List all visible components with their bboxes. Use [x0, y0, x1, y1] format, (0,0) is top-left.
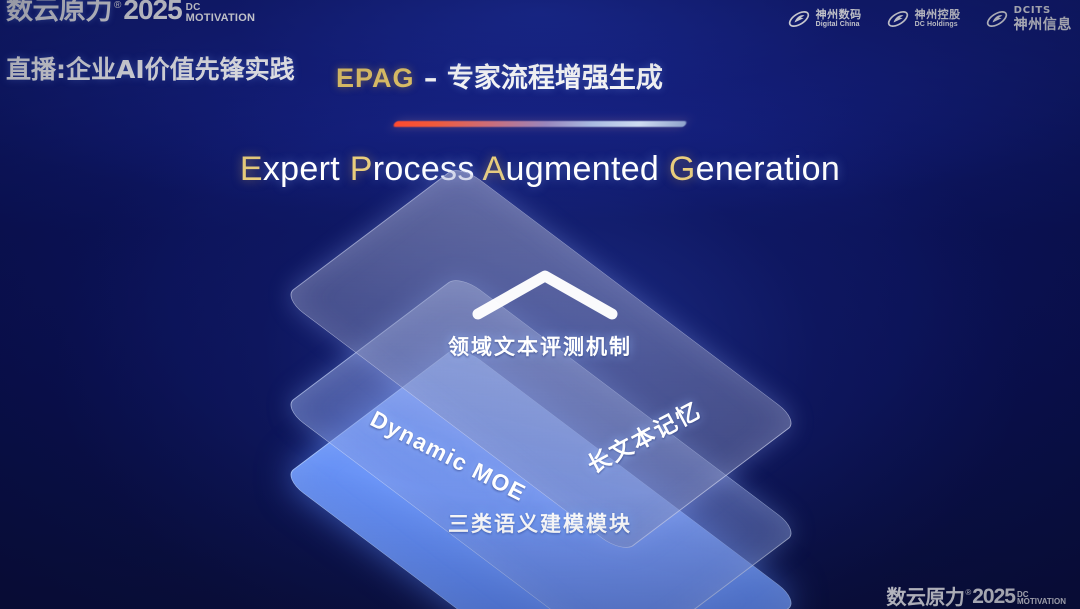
partner-logo-bar: 神州数码 Digital China 神州控股 DC Holdings [787, 6, 1072, 31]
live-stream-label: 直播:企业AI价值先锋实践 [6, 50, 295, 86]
footer-brand-dc-motivation: DC MOTIVATION [1017, 591, 1066, 606]
registered-mark-icon: ® [114, 1, 121, 11]
slide-title-acronym: EPAG [336, 63, 415, 93]
swirl-icon [985, 7, 1009, 31]
chevron-up-icon [472, 268, 618, 320]
logo-dcits-cn: 神州信息 [1014, 17, 1072, 32]
subtitle-capital-letter: G [669, 150, 696, 188]
logo-dc-holdings: 神州控股 DC Holdings [886, 7, 961, 31]
logo-dc-holdings-text: 神州控股 DC Holdings [915, 9, 961, 28]
diagram-layer-top [282, 164, 799, 554]
subtitle-capital-letter: P [350, 150, 373, 188]
footer-registered-mark-icon: ® [965, 589, 971, 597]
diagram-layer-middle-label-right: 长文本记忆 [580, 391, 706, 480]
diagram-layer-middle-label-left: Dynamic MOE [366, 405, 531, 507]
logo-dcits: DCITS 神州信息 [985, 6, 1072, 31]
subtitle-text-segment: xpert [263, 150, 350, 188]
title-divider-bar [393, 121, 688, 127]
logo-dcits-en: DCITS [1014, 6, 1072, 17]
subtitle-text-segment: ugmented [506, 150, 669, 188]
swirl-icon [787, 7, 811, 31]
swirl-icon [886, 7, 910, 31]
footer-watermark-logo: 数云原力 ® 2025 DC MOTIVATION [886, 586, 1066, 607]
slide-canvas: 数云原力 ® 2025 DC MOTIVATION 直播:企业AI价值先锋实践 … [0, 0, 1080, 609]
logo-digital-china-cn: 神州数码 [816, 9, 862, 21]
footer-brand-cn: 数云原力 [886, 587, 964, 607]
logo-dcits-text: DCITS 神州信息 [1014, 6, 1072, 31]
event-brand-year: 2025 [123, 0, 181, 24]
footer-brand-motivation: MOTIVATION [1017, 598, 1066, 606]
logo-dc-holdings-en: DC Holdings [915, 21, 961, 28]
diagram-layer-top-label: 领域文本评测机制 [0, 331, 1080, 361]
logo-digital-china-text: 神州数码 Digital China [816, 9, 862, 28]
event-brand-logo: 数云原力 ® 2025 DC MOTIVATION [6, 0, 255, 24]
slide-title-chinese: – 专家流程增强生成 [415, 63, 663, 94]
footer-brand-year: 2025 [972, 586, 1015, 607]
event-brand-dc-motivation: DC MOTIVATION [186, 3, 255, 23]
subtitle-capital-letter: A [483, 150, 506, 188]
subtitle-text-segment: eneration [696, 150, 840, 188]
logo-dc-holdings-cn: 神州控股 [915, 9, 961, 21]
diagram-layer-middle [282, 274, 799, 609]
logo-digital-china: 神州数码 Digital China [787, 7, 862, 31]
subtitle-capital-letter: E [240, 150, 263, 188]
slide-title: EPAG – 专家流程增强生成 [336, 56, 663, 95]
subtitle-text-segment: rocess [373, 150, 483, 188]
diagram-layer-bottom [282, 344, 799, 609]
diagram-layer-bottom-label: 三类语义建模模块 [0, 508, 1080, 538]
subtitle-expanded-acronym: Expert Process Augmented Generation [0, 150, 1080, 189]
event-brand-cn: 数云原力 [6, 0, 112, 24]
event-brand-motivation: MOTIVATION [186, 13, 255, 23]
logo-digital-china-en: Digital China [816, 21, 862, 28]
